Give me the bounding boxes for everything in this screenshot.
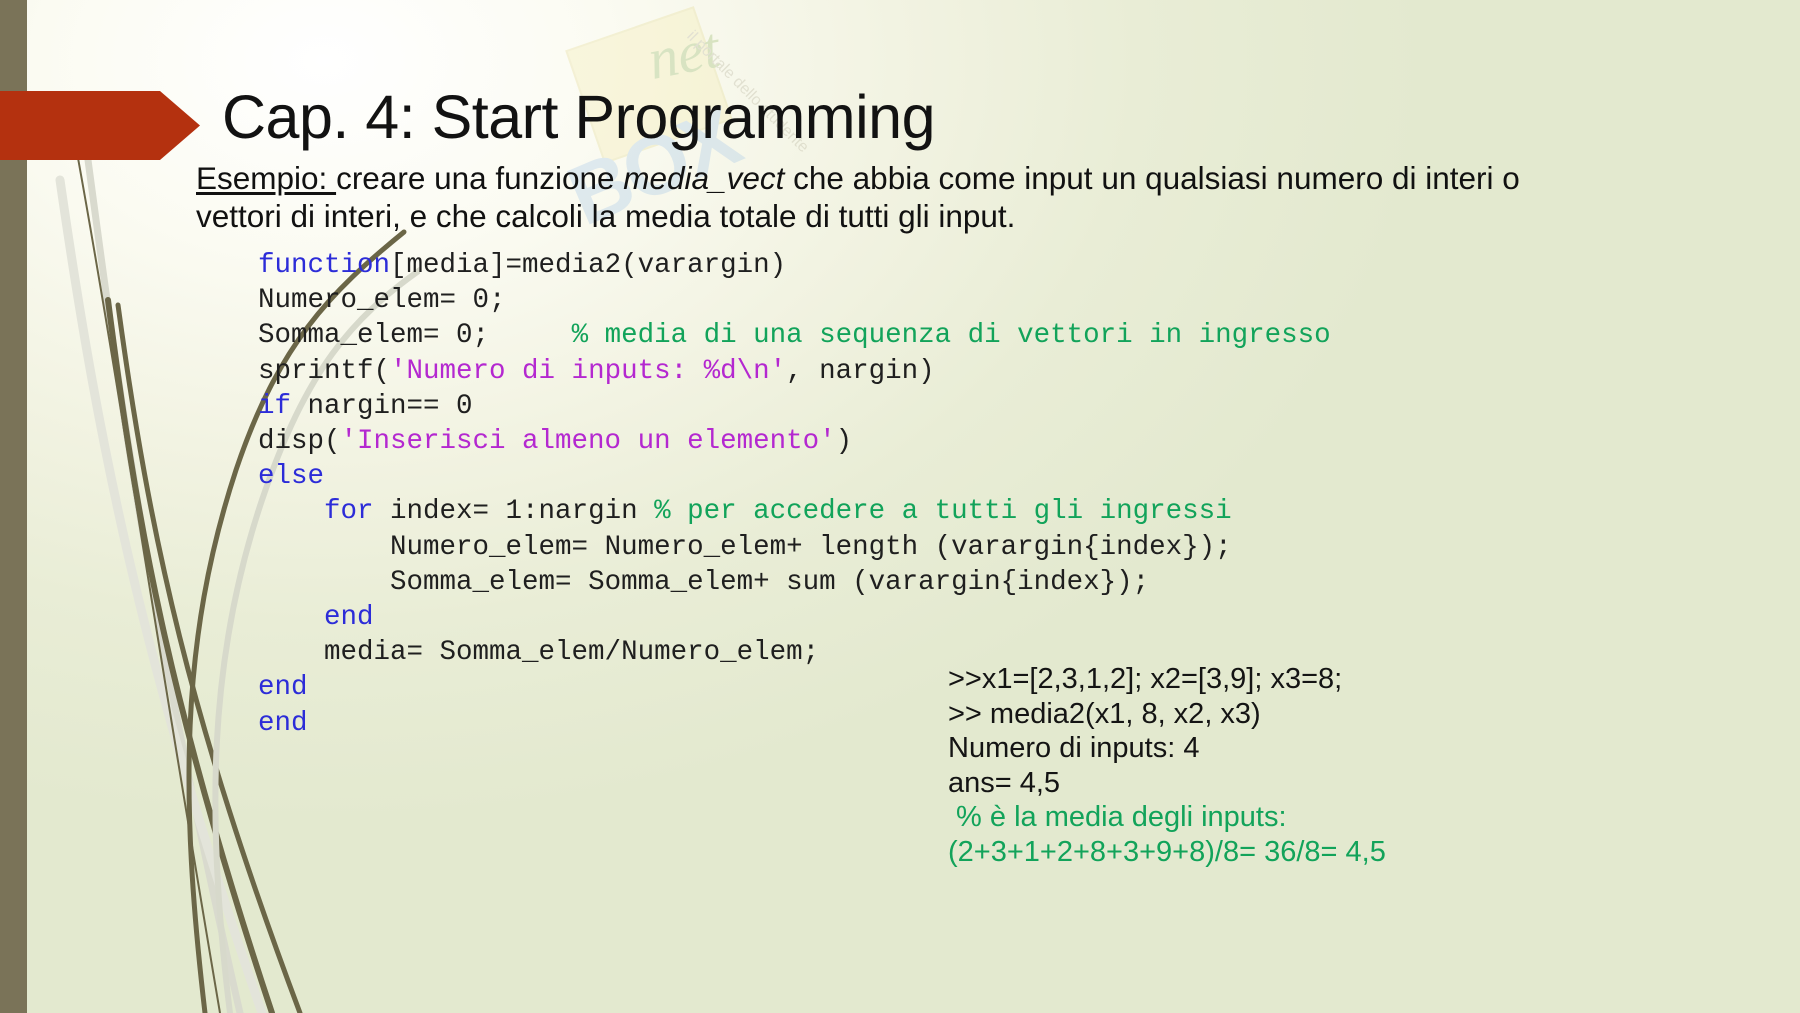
code-text: [media]=media2(varargin) (390, 250, 786, 281)
console-line: Numero di inputs: 4 (948, 731, 1386, 766)
slide-canvas: BOX net il portale dello studente Cap. 4… (0, 0, 1800, 1013)
title-chevron-shape (0, 91, 200, 160)
code-text: Somma_elem= Somma_elem+ sum (varargin{in… (390, 567, 1149, 598)
code-line: sprintf('Numero di inputs: %d\n', nargin… (258, 354, 1331, 389)
code-line: if nargin== 0 (258, 389, 1331, 424)
page-title: Cap. 4: Start Programming (222, 82, 935, 152)
code-text: index= 1:nargin (374, 496, 655, 527)
example-label: Esempio: (196, 160, 336, 196)
code-line: else (258, 459, 1331, 494)
code-text: Numero_elem= 0; (258, 285, 506, 316)
code-text: Somma_elem= 0; (258, 320, 572, 351)
code-keyword: for (324, 496, 374, 527)
example-paragraph: Esempio: creare una funzione media_vect … (196, 160, 1556, 236)
code-line: Somma_elem= 0; % media di una sequenza d… (258, 318, 1331, 353)
code-keyword: function (258, 250, 390, 281)
code-text: , nargin) (786, 356, 935, 387)
console-line: >>x1=[2,3,1,2]; x2=[3,9]; x3=8; (948, 662, 1386, 697)
matlab-console-output: >>x1=[2,3,1,2]; x2=[3,9]; x3=8;>> media2… (948, 662, 1386, 869)
code-keyword: end (324, 602, 374, 633)
code-string: 'Inserisci almeno un elemento' (341, 426, 836, 457)
code-line: for index= 1:nargin % per accedere a tut… (258, 494, 1331, 529)
code-keyword: end (258, 708, 308, 739)
example-text-before: creare una funzione (336, 160, 623, 196)
code-keyword: end (258, 672, 308, 703)
console-line: (2+3+1+2+8+3+9+8)/8= 36/8= 4,5 (948, 835, 1386, 870)
code-text: Numero_elem= Numero_elem+ length (vararg… (390, 532, 1232, 563)
code-keyword: if (258, 391, 291, 422)
code-comment: % media di una sequenza di vettori in in… (572, 320, 1331, 351)
code-text: sprintf( (258, 356, 390, 387)
code-line: Numero_elem= Numero_elem+ length (vararg… (258, 530, 1331, 565)
code-line: disp('Inserisci almeno un elemento') (258, 424, 1331, 459)
code-text: media= Somma_elem/Numero_elem; (324, 637, 819, 668)
code-text: nargin== 0 (291, 391, 473, 422)
code-indent (258, 532, 390, 563)
code-keyword: else (258, 461, 324, 492)
console-line: >> media2(x1, 8, x2, x3) (948, 697, 1386, 732)
console-line: % è la media degli inputs: (948, 800, 1386, 835)
code-line: end (258, 600, 1331, 635)
code-indent (258, 637, 324, 668)
code-line: function[media]=media2(varargin) (258, 248, 1331, 283)
code-indent (258, 567, 390, 598)
code-indent (258, 602, 324, 633)
code-string: 'Numero di inputs: %d\n' (390, 356, 786, 387)
code-text: disp( (258, 426, 341, 457)
code-line: Somma_elem= Somma_elem+ sum (varargin{in… (258, 565, 1331, 600)
code-text: ) (836, 426, 853, 457)
code-indent (258, 496, 324, 527)
code-line: Numero_elem= 0; (258, 283, 1331, 318)
example-function-name: media_vect (623, 160, 784, 196)
code-comment: % per accedere a tutti gli ingressi (654, 496, 1232, 527)
console-line: ans= 4,5 (948, 766, 1386, 801)
